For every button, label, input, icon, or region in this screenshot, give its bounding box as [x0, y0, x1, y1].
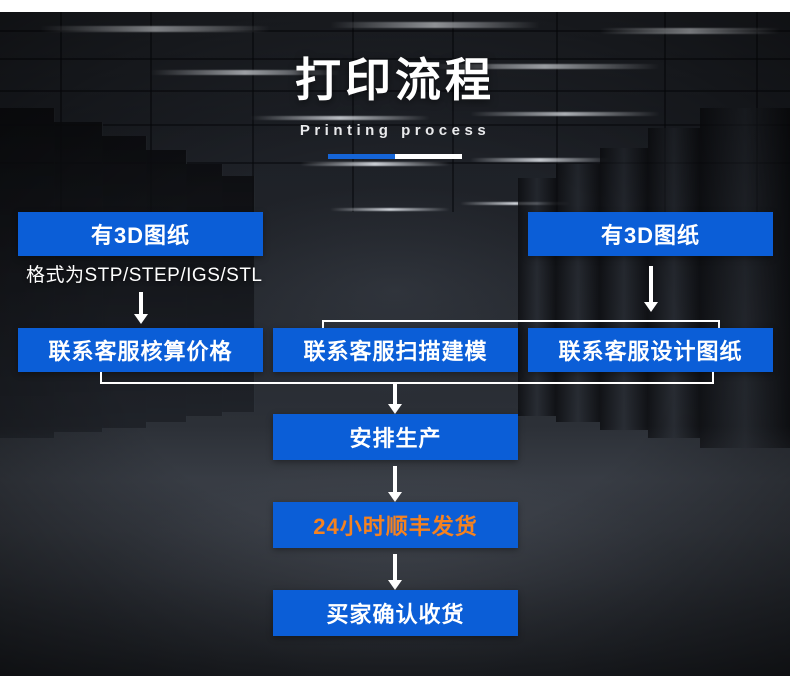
flow-box-has-3d-drawing-right[interactable]: 有3D图纸	[528, 212, 773, 256]
flow-box-buyer-confirm-receipt[interactable]: 买家确认收货	[273, 590, 518, 636]
arrow-to-production-icon	[388, 382, 402, 414]
flow-box-ship-24h-sf[interactable]: 24小时顺丰发货	[273, 502, 518, 548]
drawing-format-caption: 格式为STP/STEP/IGS/STL	[26, 260, 263, 287]
arrow-to-confirm-icon	[388, 554, 402, 590]
flow-box-contact-service-scan-model[interactable]: 联系客服扫描建模	[273, 328, 518, 372]
flow-box-contact-service-design-drawing[interactable]: 联系客服设计图纸	[528, 328, 773, 372]
flow-box-has-3d-drawing-left[interactable]: 有3D图纸	[18, 212, 263, 256]
flowchart: 有3D图纸 有3D图纸 格式为STP/STEP/IGS/STL 联系客服核算价格…	[0, 0, 790, 696]
arrow-to-shipping-icon	[388, 466, 402, 502]
flow-box-arrange-production[interactable]: 安排生产	[273, 414, 518, 460]
arrow-right-down-icon	[644, 266, 658, 314]
flow-box-contact-service-quote[interactable]: 联系客服核算价格	[18, 328, 263, 372]
arrow-left-down-icon	[134, 292, 148, 324]
connector-top-bracket	[322, 320, 720, 322]
printing-process-infographic: 打印流程 Printing process 有3D图纸 有3D图纸 格式为STP…	[0, 0, 790, 696]
connector-bottom-bracket	[100, 382, 714, 384]
